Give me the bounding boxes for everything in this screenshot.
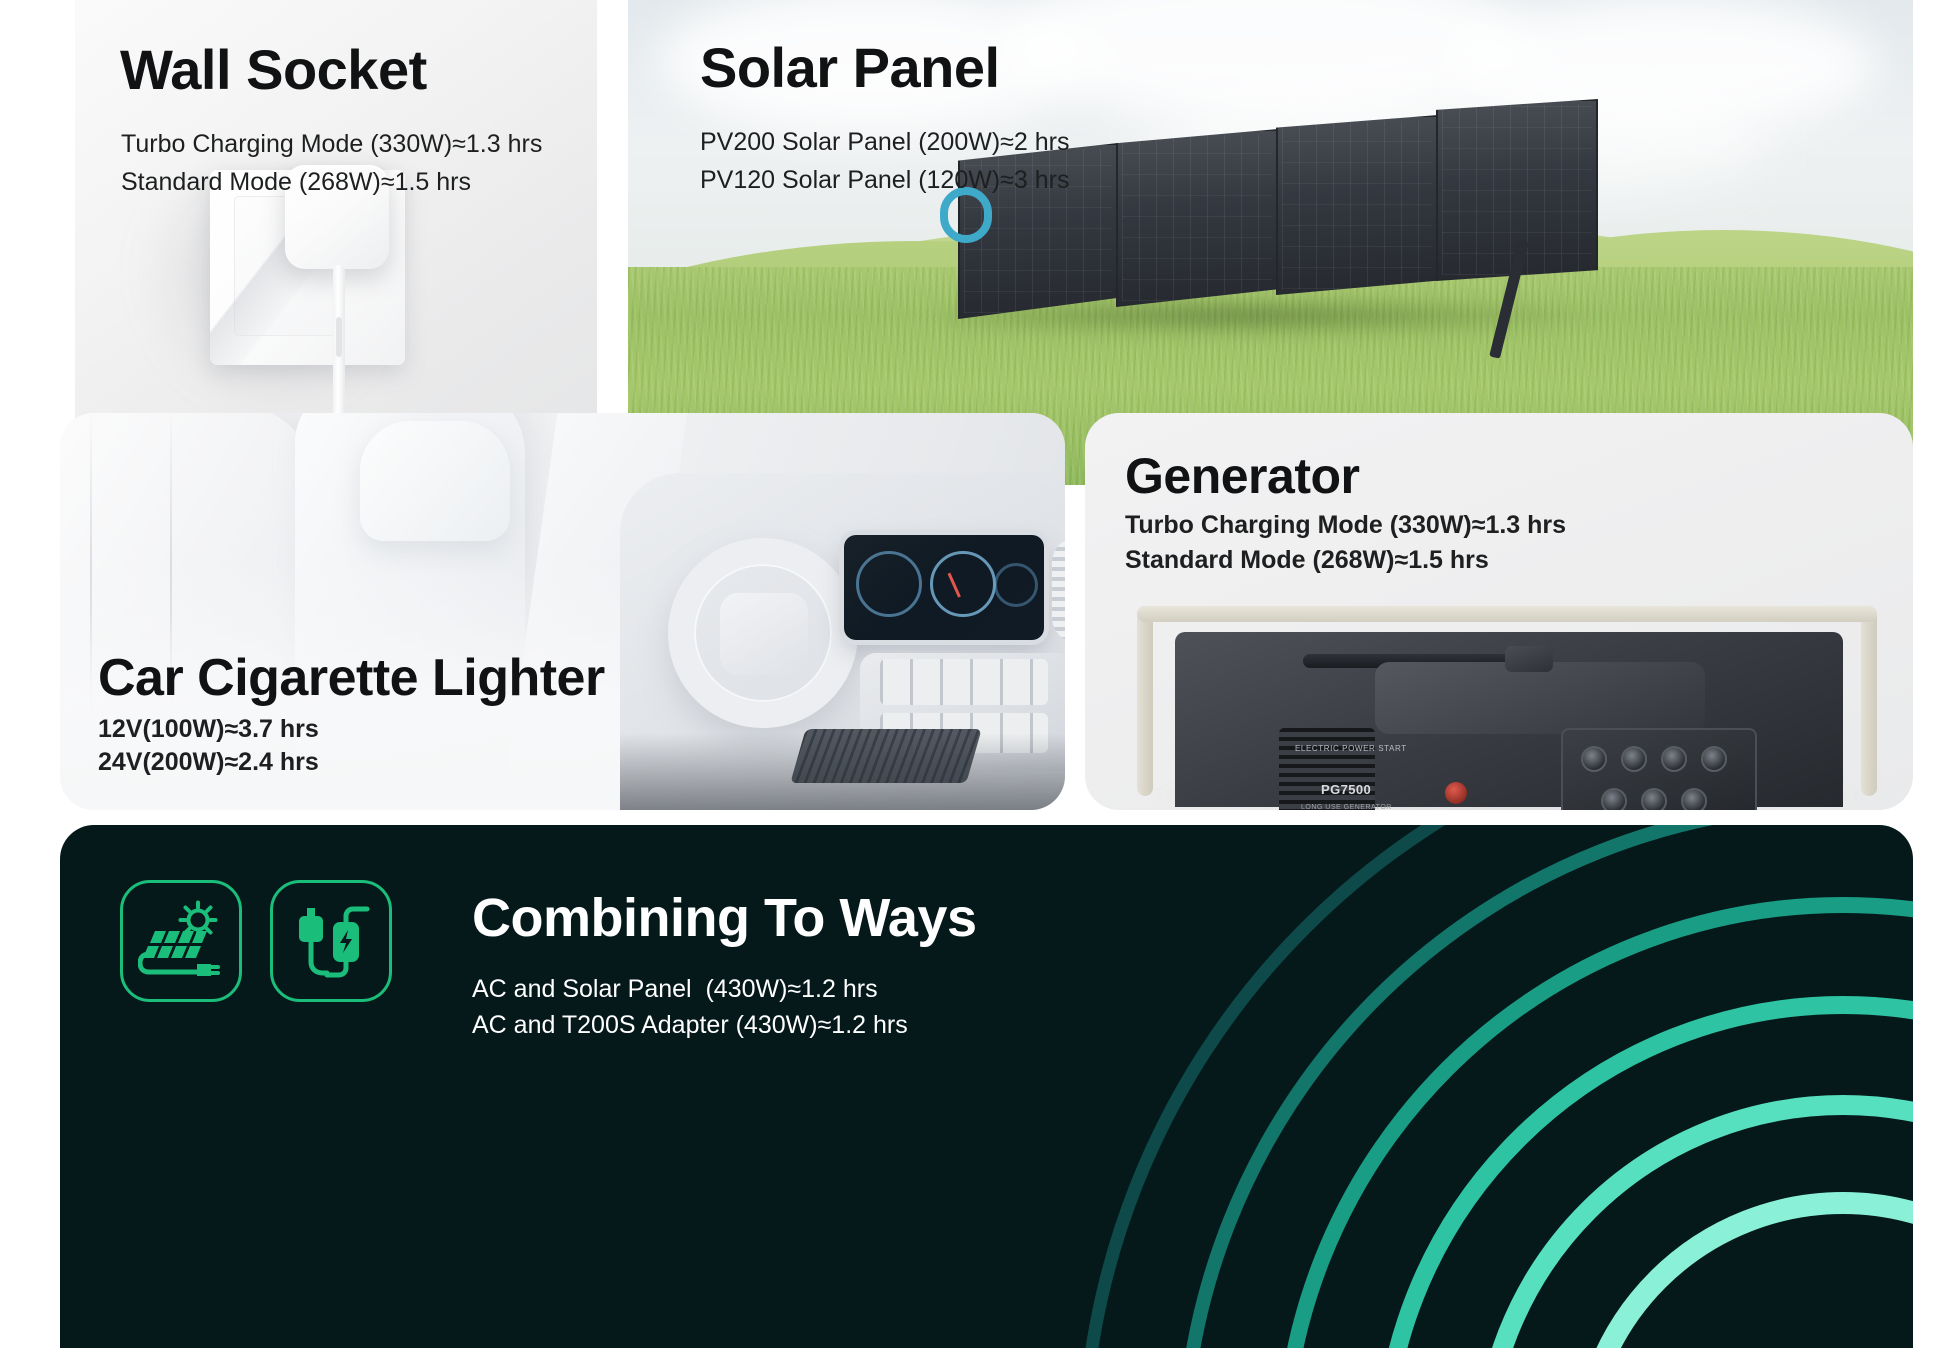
panel-segment: [1116, 129, 1278, 307]
generator-frame-top: [1137, 606, 1877, 622]
banner-text-block: Combining To Ways AC and Solar Panel (43…: [472, 887, 976, 1043]
display-dial: [994, 563, 1038, 607]
card-spec-line: Standard Mode (268W)≈1.5 hrs: [1125, 543, 1566, 578]
generator-body: ELECTRIC POWER START PG7500 LONG USE GEN…: [1175, 632, 1843, 807]
generator-outlet: [1641, 788, 1667, 810]
panel-segment: [1276, 115, 1438, 295]
infographic-page: Wall Socket Turbo Charging Mode (330W)≈1…: [0, 0, 1946, 1348]
card-title: Car Cigarette Lighter: [98, 648, 605, 708]
generator-outlet-panel: [1561, 728, 1757, 810]
generator-start-knob: [1445, 782, 1467, 804]
solar-panel-cable-icon: [120, 880, 242, 1002]
display-dial: [856, 551, 922, 617]
generator-frame-right: [1861, 606, 1877, 796]
card-spec-line: Turbo Charging Mode (330W)≈1.3 hrs: [1125, 508, 1566, 543]
display-dial: [930, 551, 996, 617]
card-spec-list: Turbo Charging Mode (330W)≈1.3 hrs Stand…: [121, 125, 542, 201]
generator-outlet: [1581, 746, 1607, 772]
console-button-row: [880, 659, 1048, 705]
card-spec-line: 24V(200W)≈2.4 hrs: [98, 746, 319, 779]
air-vent: [1052, 537, 1065, 643]
generator-outlet: [1681, 788, 1707, 810]
generator-outlet: [1601, 788, 1627, 810]
banner-spec-line: AC and T200S Adapter (430W)≈1.2 hrs: [472, 1007, 976, 1043]
card-spec-line: Turbo Charging Mode (330W)≈1.3 hrs: [121, 125, 542, 163]
card-generator: Generator Turbo Charging Mode (330W)≈1.3…: [1085, 413, 1913, 810]
generator-label-bottom: LONG USE GENERATOR: [1301, 804, 1392, 810]
generator-vent-grill: [1279, 728, 1375, 810]
banner-spec-line: AC and Solar Panel (430W)≈1.2 hrs: [472, 971, 976, 1007]
combining-ways-banner: Combining To Ways AC and Solar Panel (43…: [60, 825, 1913, 1348]
card-spec-line: Standard Mode (268W)≈1.5 hrs: [121, 163, 542, 201]
generator-frame-left: [1137, 606, 1153, 796]
generator-outlet: [1661, 746, 1687, 772]
card-spec-line: PV200 Solar Panel (200W)≈2 hrs: [700, 123, 1069, 161]
generator-label-top: ELECTRIC POWER START: [1295, 744, 1407, 753]
generator-fuel-tank: [1375, 662, 1705, 734]
decorative-arcs: [843, 825, 1913, 1348]
steering-wheel-hub: [720, 593, 808, 675]
card-spec-list: PV200 Solar Panel (200W)≈2 hrs PV120 Sol…: [700, 123, 1069, 199]
banner-icon-group: [120, 880, 392, 1002]
dashboard-display: [844, 535, 1044, 640]
card-spec-list: Turbo Charging Mode (330W)≈1.3 hrs Stand…: [1125, 508, 1566, 578]
generator-model-label: PG7500: [1321, 782, 1371, 797]
car-headrest: [360, 421, 510, 541]
card-title: Solar Panel: [700, 35, 1000, 100]
card-spec-line: PV120 Solar Panel (120W)≈3 hrs: [700, 161, 1069, 199]
card-title: Wall Socket: [120, 37, 427, 102]
console-shadow: [620, 733, 1065, 810]
generator-fuel-cap: [1505, 646, 1553, 672]
generator-outlet: [1621, 746, 1647, 772]
adapter-plug-charge-icon: [270, 880, 392, 1002]
banner-spec-list: AC and Solar Panel (430W)≈1.2 hrs AC and…: [472, 971, 976, 1043]
card-spec-line: 12V(100W)≈3.7 hrs: [98, 713, 319, 746]
card-car-cigarette-lighter: Car Cigarette Lighter 12V(100W)≈3.7 hrs …: [60, 413, 1065, 810]
card-spec-list: 12V(100W)≈3.7 hrs 24V(200W)≈2.4 hrs: [98, 713, 319, 779]
generator-outlet: [1701, 746, 1727, 772]
banner-title: Combining To Ways: [472, 887, 976, 949]
generator-image: ELECTRIC POWER START PG7500 LONG USE GEN…: [1085, 588, 1913, 810]
card-title: Generator: [1125, 447, 1359, 505]
adapter-cord-slot: [336, 317, 342, 357]
